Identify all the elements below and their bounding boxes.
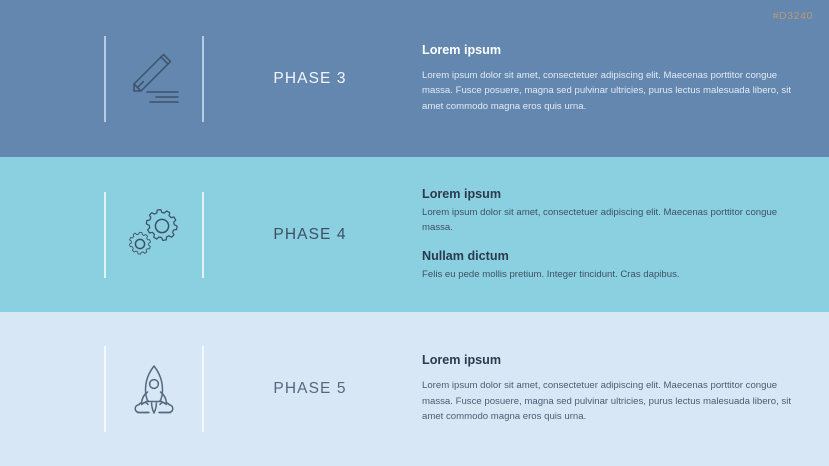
text-block: Lorem ipsum Lorem ipsum dolor sit amet, …	[422, 43, 795, 114]
icon-cell-2	[0, 157, 204, 312]
phase-label-cell-2: PHASE 4	[204, 157, 422, 312]
text-cell-2: Lorem ipsum Lorem ipsum dolor sit amet, …	[422, 157, 829, 312]
text-block: Lorem ipsum Lorem ipsum dolor sit amet, …	[422, 187, 795, 236]
divider-line-left-1	[104, 36, 106, 122]
icon-cell-3	[0, 312, 204, 466]
phase-label-2: PHASE 4	[273, 226, 346, 244]
text-cell-1: Lorem ipsum Lorem ipsum dolor sit amet, …	[422, 0, 829, 157]
template-id-watermark: #D3240	[773, 10, 813, 22]
icon-cell-1	[0, 0, 204, 157]
divider-line-left-3	[104, 346, 106, 432]
divider-line-right-3	[202, 346, 204, 432]
text-block: Lorem ipsum Lorem ipsum dolor sit amet, …	[422, 353, 795, 424]
block-body: Lorem ipsum dolor sit amet, consectetuer…	[422, 378, 795, 425]
divider-line-right-2	[202, 192, 204, 278]
block-heading: Lorem ipsum	[422, 353, 795, 369]
slide-canvas: PHASE 3 Lorem ipsum Lorem ipsum dolor si…	[0, 0, 829, 466]
block-heading: Lorem ipsum	[422, 187, 795, 203]
rocket-launch-icon	[116, 353, 192, 425]
text-block: Nullam dictum Felis eu pede mollis preti…	[422, 249, 795, 282]
block-body: Lorem ipsum dolor sit amet, consectetuer…	[422, 205, 795, 236]
block-heading: Nullam dictum	[422, 249, 795, 265]
phase-row-1[interactable]: PHASE 3 Lorem ipsum Lorem ipsum dolor si…	[0, 0, 829, 157]
divider-line-left-2	[104, 192, 106, 278]
block-body: Lorem ipsum dolor sit amet, consectetuer…	[422, 68, 795, 115]
phase-label-cell-1: PHASE 3	[204, 0, 422, 157]
block-heading: Lorem ipsum	[422, 43, 795, 59]
phase-label-3: PHASE 5	[273, 380, 346, 398]
pencil-writing-icon	[116, 43, 192, 115]
block-body: Felis eu pede mollis pretium. Integer ti…	[422, 267, 795, 283]
phase-row-2[interactable]: PHASE 4 Lorem ipsum Lorem ipsum dolor si…	[0, 157, 829, 312]
phase-label-cell-3: PHASE 5	[204, 312, 422, 466]
text-cell-3: Lorem ipsum Lorem ipsum dolor sit amet, …	[422, 312, 829, 466]
phase-row-3[interactable]: PHASE 5 Lorem ipsum Lorem ipsum dolor si…	[0, 312, 829, 466]
phase-label-1: PHASE 3	[273, 70, 346, 88]
divider-line-right-1	[202, 36, 204, 122]
gears-icon	[116, 199, 192, 271]
